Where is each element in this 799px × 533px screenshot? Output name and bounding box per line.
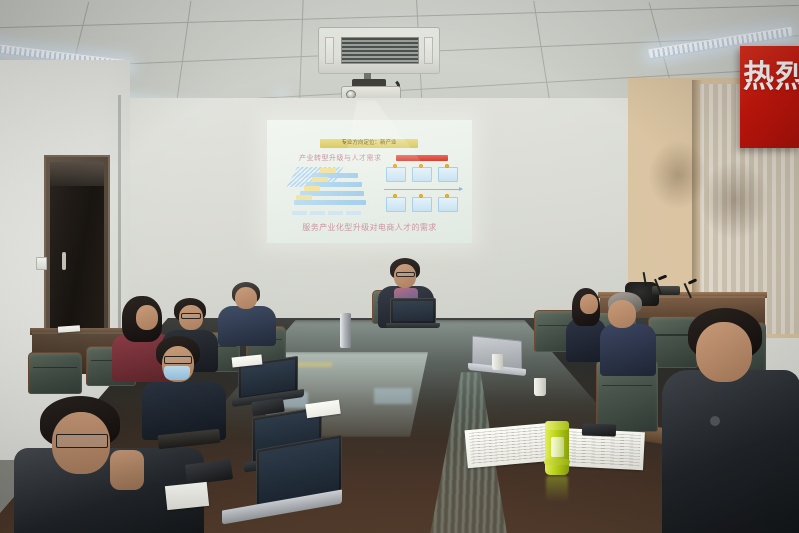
slide-heading: 产业转型升级与人才需求 bbox=[299, 153, 382, 163]
door-transom-window bbox=[50, 162, 104, 186]
curtain-shadow bbox=[648, 140, 708, 210]
attendee-jacket bbox=[600, 324, 656, 376]
face-mask bbox=[164, 366, 190, 380]
slide-axis-arrow bbox=[384, 189, 460, 190]
light-switch[interactable] bbox=[36, 257, 47, 270]
eyeglasses-icon bbox=[396, 272, 415, 277]
attendee-man-foreground bbox=[14, 396, 204, 533]
eyeglasses-icon bbox=[181, 313, 201, 319]
jacket-button bbox=[710, 416, 720, 426]
slide-right-header-bar bbox=[396, 155, 448, 161]
attendee-head bbox=[235, 287, 257, 309]
thermos-flask[interactable] bbox=[340, 313, 351, 348]
eyeglasses-icon bbox=[164, 356, 192, 364]
projection-screen: 专业方向定位：新产业 产业转型升级与人才需求 bbox=[267, 120, 472, 243]
door-handle[interactable] bbox=[62, 252, 66, 270]
paper-cup[interactable] bbox=[492, 354, 503, 370]
slide-content: 专业方向定位：新产业 产业转型升级与人才需求 bbox=[272, 125, 467, 238]
banner-text: 热烈 bbox=[740, 60, 799, 94]
document-text-lines bbox=[559, 431, 641, 467]
slide-right-diagram bbox=[384, 155, 462, 217]
laptop-screen bbox=[393, 301, 433, 321]
attendee-man-standing-navy bbox=[218, 282, 276, 344]
bottle-cap[interactable] bbox=[545, 421, 569, 430]
attendee-head bbox=[696, 322, 752, 382]
bottle-reflection bbox=[546, 476, 568, 502]
slide-title-bar: 专业方向定位：新产业 bbox=[320, 139, 418, 148]
audio-mixer-unit[interactable] bbox=[652, 286, 680, 295]
attendee-jacket bbox=[662, 370, 799, 533]
bottle-window bbox=[551, 437, 564, 457]
room-door[interactable] bbox=[50, 162, 104, 347]
presenter-laptop-base[interactable] bbox=[386, 323, 440, 328]
paper-cup[interactable] bbox=[534, 378, 546, 396]
ac-grille bbox=[341, 37, 419, 64]
curtain-shadow bbox=[700, 160, 770, 240]
red-welcome-banner: 热烈 bbox=[740, 46, 799, 148]
slide-footer-text: 服务产业化型升级对电商人才的需求 bbox=[272, 222, 467, 233]
conference-room-photo: 热烈 专业方向定位：新产业 产业转型升级与人才需求 bbox=[0, 0, 799, 533]
attendee-man-foreground-right bbox=[662, 308, 799, 533]
bottle-grip-band bbox=[544, 459, 570, 465]
attendee-head bbox=[580, 294, 598, 314]
paper-note bbox=[165, 482, 209, 510]
attendee-torso bbox=[218, 306, 276, 346]
table-reflection-detail bbox=[374, 388, 412, 404]
attendee-head bbox=[608, 300, 636, 328]
attendee-head bbox=[136, 305, 158, 330]
air-conditioner-cassette bbox=[318, 27, 440, 74]
smartphone[interactable] bbox=[582, 423, 616, 436]
slide-title-text: 专业方向定位：新产业 bbox=[320, 139, 418, 148]
attendee-hand bbox=[110, 450, 144, 490]
attendee-elderly-man-gray-hair bbox=[600, 292, 656, 372]
eyeglasses-icon bbox=[56, 434, 108, 448]
presenter-laptop-lid[interactable] bbox=[390, 298, 436, 324]
slide-left-diagram bbox=[290, 165, 375, 215]
conference-chair[interactable] bbox=[28, 352, 82, 394]
